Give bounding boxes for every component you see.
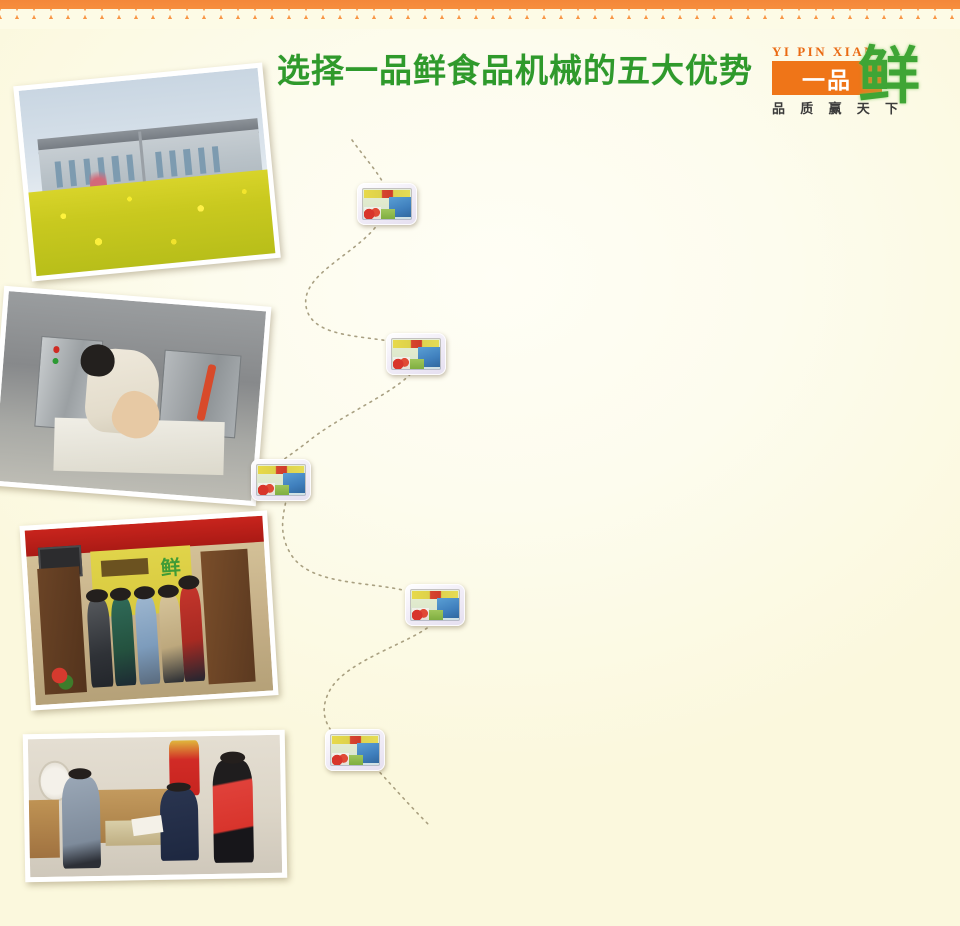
- photo3-poster-box: [101, 558, 149, 577]
- photo4-person-signing: [160, 789, 199, 861]
- photo3-door-right: [200, 548, 256, 684]
- thumb-ground: [409, 359, 424, 369]
- photo3-person-head: [86, 589, 108, 603]
- photo3-person-head: [133, 586, 155, 600]
- photo4-person-seated-left: [61, 777, 100, 869]
- photo-contract-signing: [23, 730, 288, 883]
- advantage-node-5[interactable]: [325, 729, 385, 771]
- thumb-foreground: [332, 753, 349, 765]
- advantage-node-1[interactable]: [357, 183, 417, 225]
- photo4-person-head: [220, 751, 245, 764]
- photo3-poster-xian: 鲜: [160, 551, 182, 581]
- photo4-person-standing-right: [212, 760, 254, 863]
- thumb-ground: [274, 485, 289, 495]
- thumb-ground: [428, 610, 443, 620]
- advantage-node-4[interactable]: [405, 584, 465, 626]
- advantage-node-3-thumbnail: [256, 464, 306, 496]
- thumb-foreground: [258, 483, 275, 495]
- advantage-node-1-thumbnail: [362, 188, 412, 220]
- photo4-wicker-chair: [28, 799, 60, 858]
- photo4-person-head: [68, 769, 92, 780]
- photo3-person-head: [109, 587, 131, 601]
- thumb-ground: [348, 755, 363, 765]
- photo4-person-head: [167, 782, 191, 791]
- photo3-flowers: [48, 664, 78, 694]
- thumb-foreground: [364, 207, 381, 219]
- thumb-ground: [380, 209, 395, 219]
- advantage-node-4-thumbnail: [410, 589, 460, 621]
- advantages-page: 选择一品鲜食品机械的五大优势 YI PIN XIAN 一品 鲜 品 质 赢 天 …: [0, 0, 960, 926]
- photo3-person-head: [157, 584, 179, 598]
- advantage-node-3[interactable]: [251, 459, 311, 501]
- photo-factory-exterior: [13, 62, 281, 281]
- photo-group-brand-wall: 鲜: [19, 510, 278, 710]
- thumb-foreground: [412, 608, 429, 620]
- thumb-foreground: [393, 357, 410, 369]
- advantage-node-2-thumbnail: [391, 338, 441, 370]
- photo-worker-machinery: [0, 286, 271, 506]
- advantage-node-2[interactable]: [386, 333, 446, 375]
- advantage-node-5-thumbnail: [330, 734, 380, 766]
- photo3-person-head: [178, 575, 200, 590]
